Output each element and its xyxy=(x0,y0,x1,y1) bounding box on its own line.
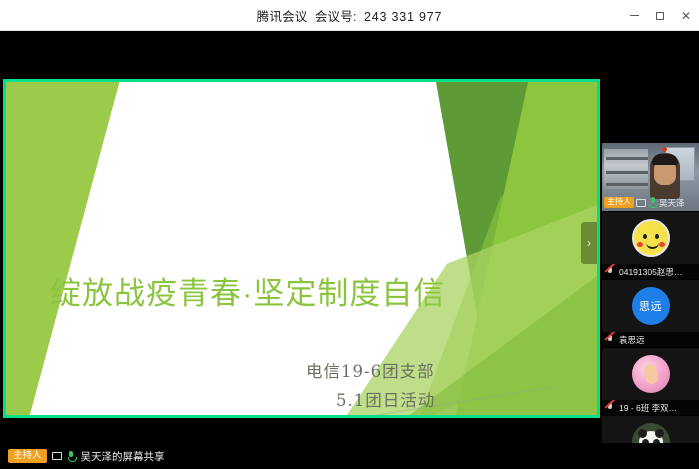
avatar xyxy=(632,219,670,257)
participant-tile-2[interactable]: 04191305赵思… xyxy=(602,211,699,279)
status-host-badge: 主持人 xyxy=(8,449,47,464)
chevron-right-icon[interactable]: › xyxy=(581,222,597,264)
participant-tile-4[interactable]: 19 - 6班 李双… xyxy=(602,347,699,415)
slide-subtitle: 电信19-6团支部 5.1团日活动 xyxy=(306,358,435,415)
window-title: 腾讯会议 会议号: 243 331 977 xyxy=(257,6,443,25)
participant-strip: 主持人 吴天泽 04191305赵思… xyxy=(602,143,699,415)
participant-label-4: 19 - 6班 李双… xyxy=(602,400,699,415)
app-title: 腾讯会议 xyxy=(257,10,308,24)
slide-title: 绽放战疫青春·坚定制度自信 xyxy=(50,268,445,313)
participant-tile-3[interactable]: 思远 袁思远 xyxy=(602,279,699,347)
window-controls: ✕ xyxy=(621,0,699,31)
participant-label-host: 主持人 吴天泽 xyxy=(602,195,699,210)
avatar xyxy=(632,355,670,393)
mic-on-icon xyxy=(648,197,657,208)
slide-shape-left xyxy=(6,82,120,415)
maximize-icon[interactable] xyxy=(647,0,673,31)
title-bar: 腾讯会议 会议号: 243 331 977 ✕ xyxy=(0,0,699,31)
mic-off-icon xyxy=(605,402,616,413)
participant-name: 吴天泽 xyxy=(659,197,685,209)
mic-off-icon xyxy=(605,266,616,277)
mic-off-icon xyxy=(605,334,616,345)
minimize-icon[interactable] xyxy=(621,0,647,31)
meeting-number-value: 243 331 977 xyxy=(364,10,442,24)
screen-share-icon xyxy=(636,199,646,207)
participant-name: 19 - 6班 李双… xyxy=(619,402,677,414)
host-badge: 主持人 xyxy=(604,197,634,208)
status-share-text: 吴天泽的屏幕共享 xyxy=(81,449,165,464)
status-bar: 主持人 吴天泽的屏幕共享 xyxy=(0,443,699,469)
host-hair xyxy=(652,154,678,165)
participant-tile-host[interactable]: 主持人 吴天泽 xyxy=(602,143,699,211)
meeting-window: 腾讯会议 会议号: 243 331 977 ✕ 绽放战疫青春·坚定制度自信 xyxy=(0,0,699,469)
room-shelf xyxy=(604,149,648,189)
presentation-slide: 绽放战疫青春·坚定制度自信 电信19-6团支部 5.1团日活动 › xyxy=(6,82,597,415)
avatar: 思远 xyxy=(632,287,670,325)
mic-on-icon xyxy=(67,451,76,462)
slide-subtitle-line2: 5.1团日活动 xyxy=(306,387,435,415)
room-red-object xyxy=(662,147,667,152)
participant-name: 袁思远 xyxy=(619,334,645,346)
close-icon[interactable]: ✕ xyxy=(673,0,699,31)
screen-share-icon xyxy=(52,452,62,460)
meeting-number-label: 会议号: xyxy=(315,10,357,24)
participant-label-3: 袁思远 xyxy=(602,332,699,347)
participant-name: 04191305赵思… xyxy=(619,266,682,278)
meeting-stage: 绽放战疫青春·坚定制度自信 电信19-6团支部 5.1团日活动 › xyxy=(0,31,699,469)
slide-subtitle-line1: 电信19-6团支部 xyxy=(306,362,435,381)
participant-label-2: 04191305赵思… xyxy=(602,264,699,279)
shared-screen-frame[interactable]: 绽放战疫青春·坚定制度自信 电信19-6团支部 5.1团日活动 › xyxy=(3,79,600,418)
